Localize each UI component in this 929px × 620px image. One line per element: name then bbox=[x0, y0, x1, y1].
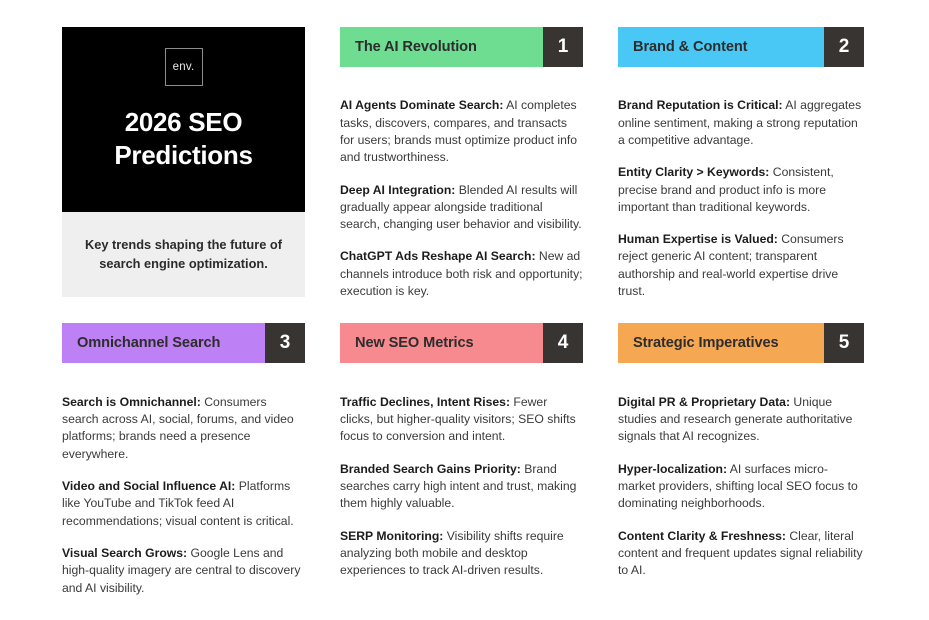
page-title: 2026 SEO Predictions bbox=[62, 106, 305, 173]
card-number-badge-5: 5 bbox=[824, 323, 864, 363]
card-body-2: Brand Reputation is Critical: AI aggrega… bbox=[618, 67, 864, 300]
brand-logo-text: env. bbox=[173, 61, 195, 73]
card-title-4: New SEO Metrics bbox=[340, 323, 543, 363]
bullet-lead: SERP Monitoring: bbox=[340, 529, 443, 543]
card-body-4: Traffic Declines, Intent Rises: Fewer cl… bbox=[340, 363, 583, 579]
bullet-lead: Search is Omnichannel: bbox=[62, 395, 201, 409]
card-header-3: Omnichannel Search 3 bbox=[62, 323, 305, 363]
infographic-board: env. 2026 SEO Predictions Key trends sha… bbox=[0, 0, 929, 620]
bullet-item: Content Clarity & Freshness: Clear, lite… bbox=[618, 528, 864, 580]
prediction-card-5: Strategic Imperatives 5 Digital PR & Pro… bbox=[618, 323, 864, 596]
prediction-card-2: Brand & Content 2 Brand Reputation is Cr… bbox=[618, 27, 864, 300]
cover-card-bottom: Key trends shaping the future of search … bbox=[62, 212, 305, 297]
card-header-2: Brand & Content 2 bbox=[618, 27, 864, 67]
bullet-item: Digital PR & Proprietary Data: Unique st… bbox=[618, 394, 864, 446]
cover-card: env. 2026 SEO Predictions Key trends sha… bbox=[62, 27, 305, 300]
bullet-item: Deep AI Integration: Blended AI results … bbox=[340, 182, 583, 234]
bullet-lead: Hyper-localization: bbox=[618, 462, 727, 476]
card-body-5: Digital PR & Proprietary Data: Unique st… bbox=[618, 363, 864, 579]
bullet-item: Entity Clarity > Keywords: Consistent, p… bbox=[618, 164, 864, 216]
bullet-item: Hyper-localization: AI surfaces micro-ma… bbox=[618, 461, 864, 513]
page-subtitle: Key trends shaping the future of search … bbox=[82, 236, 285, 273]
prediction-card-4: New SEO Metrics 4 Traffic Declines, Inte… bbox=[340, 323, 583, 596]
bullet-item: Traffic Declines, Intent Rises: Fewer cl… bbox=[340, 394, 583, 446]
bullet-item: SERP Monitoring: Visibility shifts requi… bbox=[340, 528, 583, 580]
card-body-3: Search is Omnichannel: Consumers search … bbox=[62, 363, 305, 596]
bullet-lead: Digital PR & Proprietary Data: bbox=[618, 395, 790, 409]
card-header-4: New SEO Metrics 4 bbox=[340, 323, 583, 363]
bullet-lead: Branded Search Gains Priority: bbox=[340, 462, 521, 476]
cover-card-top: env. 2026 SEO Predictions bbox=[62, 27, 305, 212]
bullet-lead: Video and Social Influence AI: bbox=[62, 479, 235, 493]
prediction-card-1: The AI Revolution 1 AI Agents Dominate S… bbox=[340, 27, 583, 300]
card-number-badge-2: 2 bbox=[824, 27, 864, 67]
bullet-item: Search is Omnichannel: Consumers search … bbox=[62, 394, 305, 463]
bullet-item: ChatGPT Ads Reshape AI Search: New ad ch… bbox=[340, 248, 583, 300]
bullet-lead: Visual Search Grows: bbox=[62, 546, 187, 560]
bullet-item: Visual Search Grows: Google Lens and hig… bbox=[62, 545, 305, 597]
card-title-5: Strategic Imperatives bbox=[618, 323, 824, 363]
bullet-lead: Deep AI Integration: bbox=[340, 183, 455, 197]
bullet-lead: Content Clarity & Freshness: bbox=[618, 529, 786, 543]
card-header-1: The AI Revolution 1 bbox=[340, 27, 583, 67]
bullet-item: Branded Search Gains Priority: Brand sea… bbox=[340, 461, 583, 513]
bullet-lead: Brand Reputation is Critical: bbox=[618, 98, 783, 112]
bullet-lead: Entity Clarity > Keywords: bbox=[618, 165, 769, 179]
card-number-badge-3: 3 bbox=[265, 323, 305, 363]
bullet-lead: ChatGPT Ads Reshape AI Search: bbox=[340, 249, 536, 263]
bullet-lead: Traffic Declines, Intent Rises: bbox=[340, 395, 510, 409]
card-body-1: AI Agents Dominate Search: AI completes … bbox=[340, 67, 583, 300]
prediction-card-3: Omnichannel Search 3 Search is Omnichann… bbox=[62, 323, 305, 596]
card-title-2: Brand & Content bbox=[618, 27, 824, 67]
card-number-badge-4: 4 bbox=[543, 323, 583, 363]
card-number-badge-1: 1 bbox=[543, 27, 583, 67]
card-header-5: Strategic Imperatives 5 bbox=[618, 323, 864, 363]
bullet-item: Brand Reputation is Critical: AI aggrega… bbox=[618, 97, 864, 149]
bullet-item: AI Agents Dominate Search: AI completes … bbox=[340, 97, 583, 166]
card-title-1: The AI Revolution bbox=[340, 27, 543, 67]
brand-logo: env. bbox=[165, 48, 203, 86]
card-title-3: Omnichannel Search bbox=[62, 323, 265, 363]
bullet-item: Human Expertise is Valued: Consumers rej… bbox=[618, 231, 864, 300]
bullet-item: Video and Social Influence AI: Platforms… bbox=[62, 478, 305, 530]
bullet-lead: Human Expertise is Valued: bbox=[618, 232, 778, 246]
bullet-lead: AI Agents Dominate Search: bbox=[340, 98, 503, 112]
card-grid: env. 2026 SEO Predictions Key trends sha… bbox=[62, 27, 867, 597]
